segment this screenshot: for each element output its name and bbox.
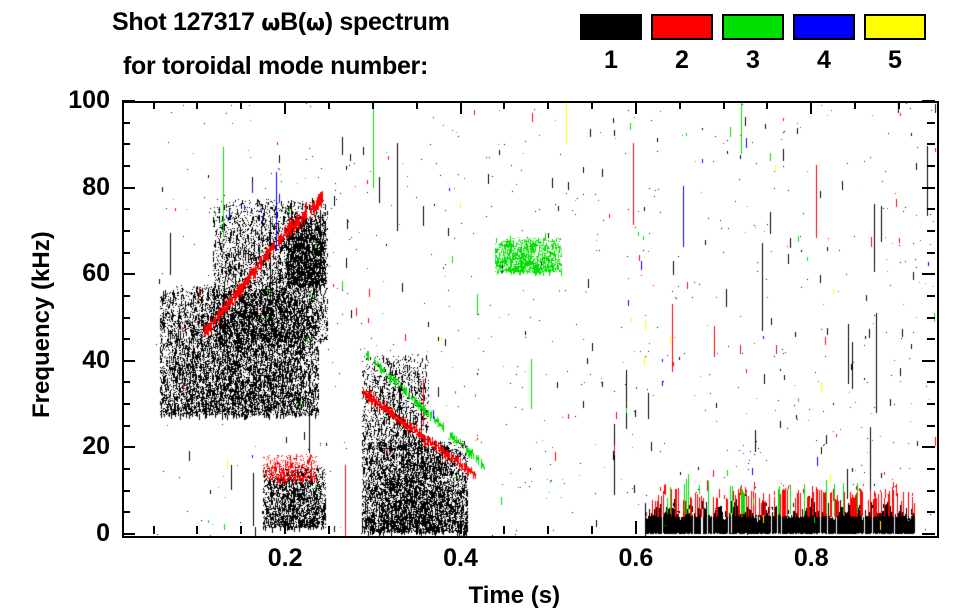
x-tick-label-0.2: 0.2 (245, 546, 325, 571)
plot-area (122, 101, 939, 538)
legend-swatch-n3 (722, 14, 784, 40)
spectrogram-canvas (124, 103, 937, 536)
y-tick-label-60: 60 (50, 261, 110, 286)
x-tick-label-0.8: 0.8 (771, 546, 851, 571)
legend-swatch-n4 (793, 14, 855, 40)
legend: 12345 (0, 0, 963, 95)
legend-item-n1: 1 (580, 14, 642, 40)
spectrogram-figure: Shot 127317 ωB(ω) spectrum for toroidal … (0, 0, 963, 615)
y-tick-label-0: 0 (50, 521, 110, 546)
x-tick-label-0.4: 0.4 (421, 546, 501, 571)
legend-label-n5: 5 (864, 48, 926, 73)
legend-item-n4: 4 (793, 14, 855, 40)
legend-item-n5: 5 (864, 14, 926, 40)
legend-item-n3: 3 (722, 14, 784, 40)
legend-swatch-n2 (651, 14, 713, 40)
legend-label-n3: 3 (722, 48, 784, 73)
y-axis-label: Frequency (kHz) (28, 231, 56, 418)
legend-swatch-n5 (864, 14, 926, 40)
y-tick-label-20: 20 (50, 434, 110, 459)
legend-label-n2: 2 (651, 48, 713, 73)
y-tick-label-100: 100 (50, 88, 110, 113)
legend-swatch-n1 (580, 14, 642, 40)
x-axis-label: Time (s) (469, 582, 561, 610)
legend-label-n1: 1 (580, 48, 642, 73)
legend-label-n4: 4 (793, 48, 855, 73)
x-tick-label-0.6: 0.6 (596, 546, 676, 571)
y-tick-label-40: 40 (50, 348, 110, 373)
y-tick-label-80: 80 (50, 175, 110, 200)
legend-item-n2: 2 (651, 14, 713, 40)
